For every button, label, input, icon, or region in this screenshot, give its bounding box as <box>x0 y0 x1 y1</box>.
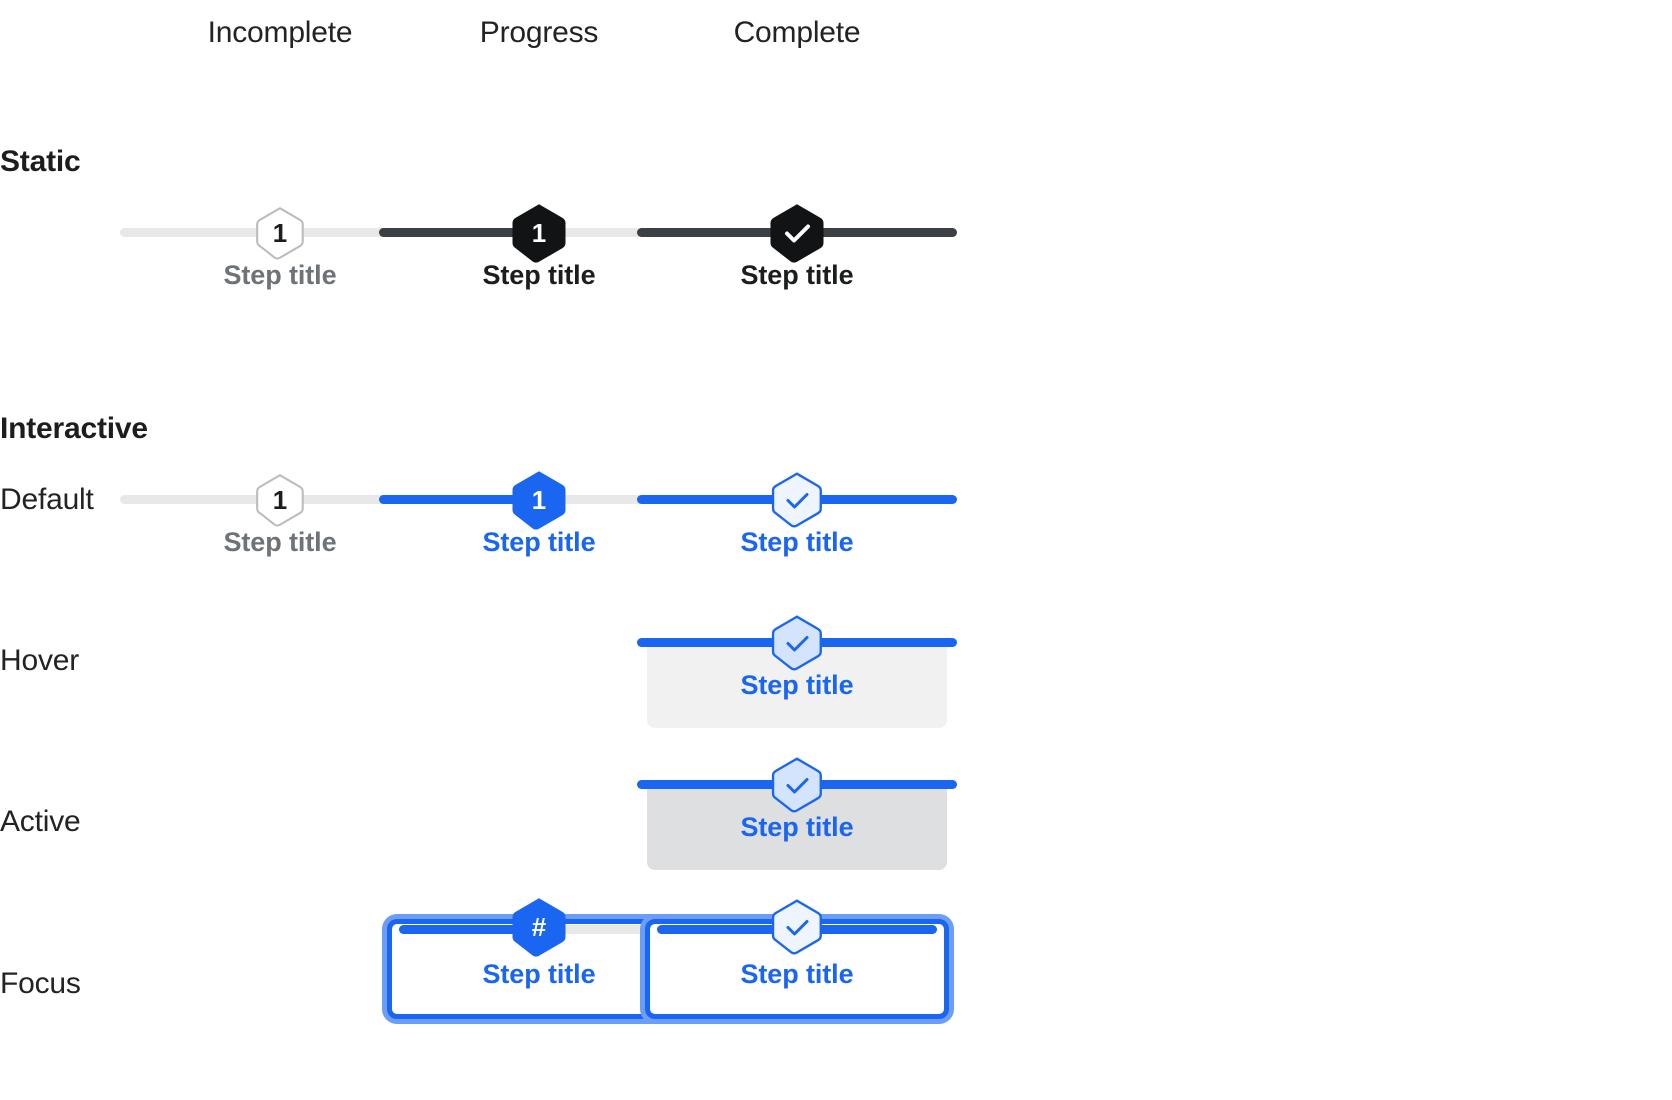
step-marker-number: 1 <box>532 220 546 246</box>
column-header-complete: Complete <box>637 14 957 52</box>
row-label-active: Active <box>0 803 81 841</box>
row-label-default: Default <box>0 481 94 519</box>
row-label-focus: Focus <box>0 965 81 1003</box>
step-active-complete[interactable]: Step title <box>637 752 957 872</box>
row-label-hover: Hover <box>0 642 79 680</box>
step-marker-hexagon: 1 <box>511 202 567 264</box>
step-marker-hexagon[interactable]: 1 <box>252 469 308 531</box>
step-static-complete: Step title <box>637 200 957 320</box>
step-title[interactable]: Step title <box>637 957 957 991</box>
step-marker-hexagon[interactable] <box>769 469 825 531</box>
stepper-states-spec-sheet: Incomplete Progress Complete Static 1 St… <box>0 0 1672 1100</box>
step-marker-hash: # <box>532 914 546 940</box>
step-marker-hexagon[interactable] <box>769 896 825 958</box>
step-marker-hexagon: 1 <box>252 202 308 264</box>
step-marker-number: 1 <box>273 220 287 246</box>
step-marker-hexagon[interactable]: # <box>511 896 567 958</box>
step-marker-number: 1 <box>273 487 287 513</box>
step-marker-number: 1 <box>532 487 546 513</box>
step-marker-hexagon[interactable] <box>769 612 825 674</box>
section-label-static: Static <box>0 143 81 181</box>
step-marker-hexagon[interactable]: 1 <box>511 469 567 531</box>
step-default-complete[interactable]: Step title <box>637 467 957 587</box>
step-marker-hexagon <box>769 202 825 264</box>
step-hover-complete[interactable]: Step title <box>637 610 957 730</box>
step-focus-complete[interactable]: Step title <box>637 895 957 1015</box>
step-marker-hexagon[interactable] <box>769 754 825 816</box>
section-label-interactive: Interactive <box>0 410 148 448</box>
